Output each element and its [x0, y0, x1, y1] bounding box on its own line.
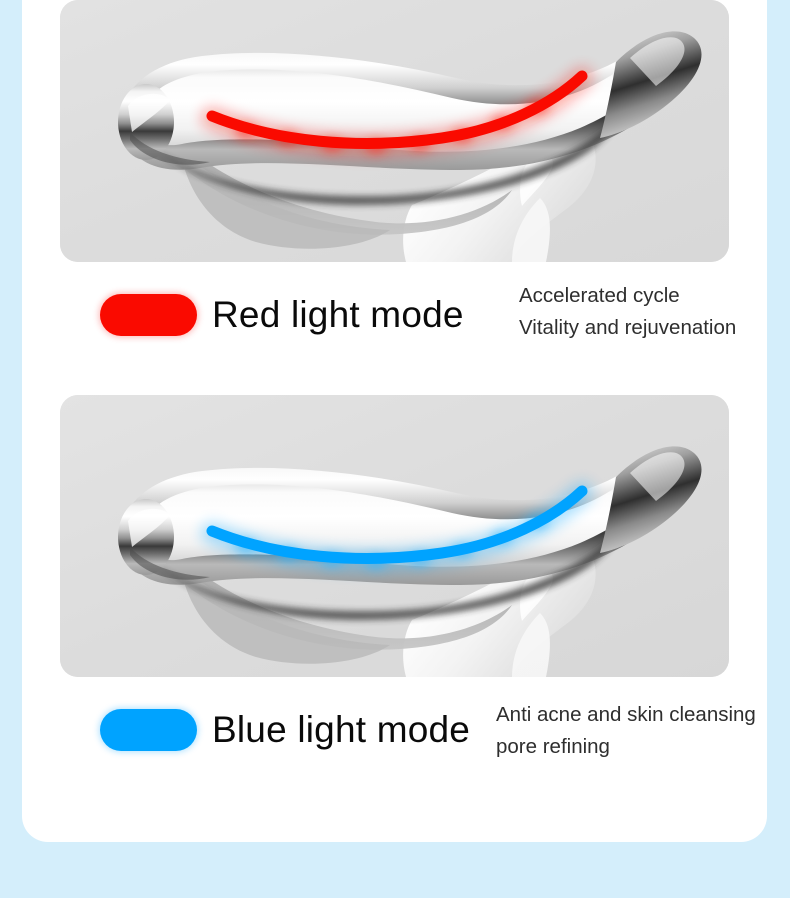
mode-block-red: Red light mode Accelerated cycle Vitalit…: [22, 0, 767, 384]
mode-title-blue: Blue light mode: [212, 699, 470, 761]
description-line-2: Vitality and rejuvenation: [519, 312, 736, 344]
mode-block-blue: Blue light mode Anti acne and skin clean…: [22, 395, 767, 799]
product-photo-red: [60, 0, 729, 262]
description-line-2: pore refining: [496, 731, 756, 763]
product-feature-page: Red light mode Accelerated cycle Vitalit…: [0, 0, 790, 898]
mode-title-red: Red light mode: [212, 284, 464, 346]
blue-light-pill: [100, 709, 197, 751]
mode-description-blue: Anti acne and skin cleansing pore refini…: [496, 699, 756, 763]
red-light-pill: [100, 294, 197, 336]
product-photo-blue: [60, 395, 729, 677]
product-illustration-blue-icon: [60, 395, 729, 677]
caption-row-red: Red light mode Accelerated cycle Vitalit…: [22, 284, 767, 384]
content-card: Red light mode Accelerated cycle Vitalit…: [22, 0, 767, 842]
description-line-1: Accelerated cycle: [519, 280, 736, 312]
caption-row-blue: Blue light mode Anti acne and skin clean…: [22, 699, 767, 799]
product-illustration-red-icon: [60, 0, 729, 262]
mode-description-red: Accelerated cycle Vitality and rejuvenat…: [519, 280, 736, 344]
description-line-1: Anti acne and skin cleansing: [496, 699, 756, 731]
